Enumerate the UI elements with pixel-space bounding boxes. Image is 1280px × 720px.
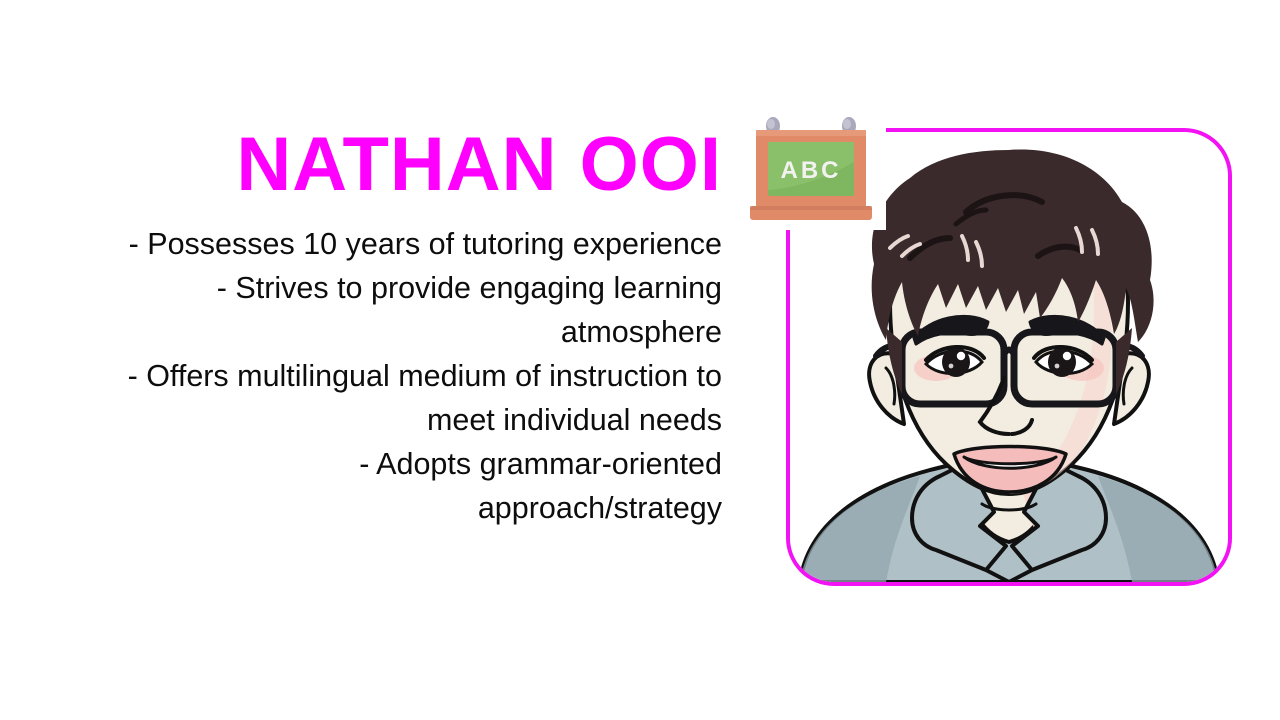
list-item: approach/strategy xyxy=(0,486,722,530)
chalkboard-text: ABC xyxy=(781,157,842,184)
list-item: atmosphere xyxy=(0,310,722,354)
qualification-list: - Possesses 10 years of tutoring experie… xyxy=(0,222,722,530)
list-item: - Strives to provide engaging learning xyxy=(0,266,722,310)
slide-canvas: NATHAN OOI - Possesses 10 years of tutor… xyxy=(0,0,1280,720)
list-item: - Possesses 10 years of tutoring experie… xyxy=(0,222,722,266)
text-column: NATHAN OOI - Possesses 10 years of tutor… xyxy=(0,122,722,530)
chalkboard-abc-icon: ABC xyxy=(748,116,874,228)
page-title: NATHAN OOI xyxy=(0,122,722,208)
list-item: meet individual needs xyxy=(0,398,722,442)
list-item: - Offers multilingual medium of instruct… xyxy=(0,354,722,398)
list-item: - Adopts grammar-oriented xyxy=(0,442,722,486)
